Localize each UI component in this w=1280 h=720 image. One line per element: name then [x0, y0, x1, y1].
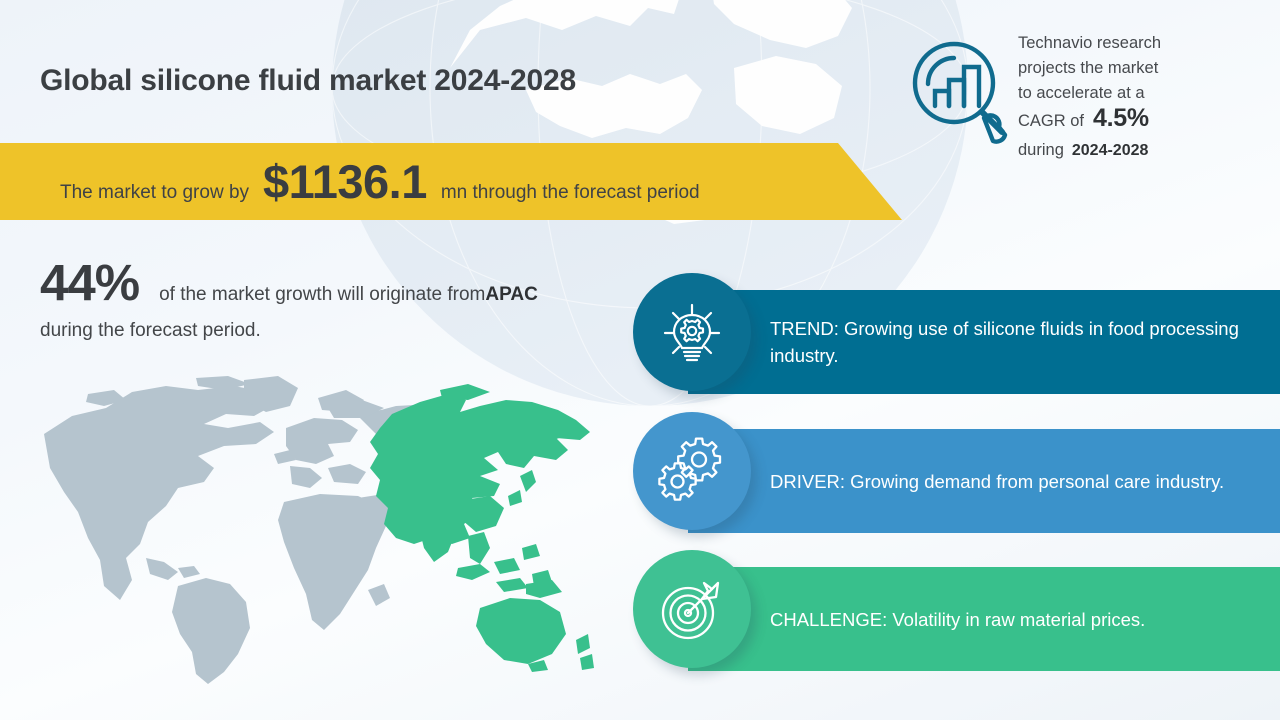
lightbulb-gear-icon [655, 295, 729, 369]
cagr-line-1: Technavio research [1018, 31, 1193, 56]
challenge-text: CHALLENGE: Volatility in raw material pr… [770, 606, 1175, 633]
challenge-icon-circle [633, 550, 751, 668]
world-map [28, 372, 628, 690]
driver-icon-circle [633, 412, 751, 530]
market-growth-banner: The market to grow by $1136.1 mn through… [0, 143, 902, 220]
market-growth-value: $1136.1 [263, 154, 427, 209]
cagr-summary-block: Technavio research projects the market t… [900, 28, 1280, 173]
cagr-line-2: projects the market [1018, 56, 1193, 81]
banner-prefix-text: The market to grow by [60, 182, 249, 204]
magnifier-bar-chart-icon [904, 36, 1016, 148]
apac-region-label: APAC [485, 284, 537, 306]
during-label: during [1018, 138, 1064, 163]
apac-forecast-note: during the forecast period. [40, 320, 640, 342]
apac-percent: 44% [40, 253, 139, 312]
apac-growth-stat: 44% of the market growth will originate … [40, 253, 640, 342]
target-arrow-icon [654, 571, 730, 647]
apac-description: of the market growth will originate from [159, 284, 485, 306]
cagr-line-3: to accelerate at a [1018, 81, 1193, 106]
cagr-value: 4.5% [1093, 106, 1149, 131]
cagr-label: CAGR of [1018, 109, 1084, 134]
insight-bar-trend[interactable]: TREND: Growing use of silicone fluids in… [688, 290, 1280, 394]
banner-suffix-text: mn through the forecast period [441, 182, 700, 204]
insight-bar-challenge[interactable]: CHALLENGE: Volatility in raw material pr… [688, 567, 1280, 671]
page-title: Global silicone fluid market 2024-2028 [40, 64, 576, 98]
map-apac-highlight [370, 384, 594, 672]
gears-icon [653, 432, 731, 510]
insight-bar-driver[interactable]: DRIVER: Growing demand from personal car… [688, 429, 1280, 533]
forecast-period: 2024-2028 [1072, 139, 1149, 164]
trend-text: TREND: Growing use of silicone fluids in… [770, 315, 1280, 369]
trend-icon-circle [633, 273, 751, 391]
driver-text: DRIVER: Growing demand from personal car… [770, 468, 1254, 495]
